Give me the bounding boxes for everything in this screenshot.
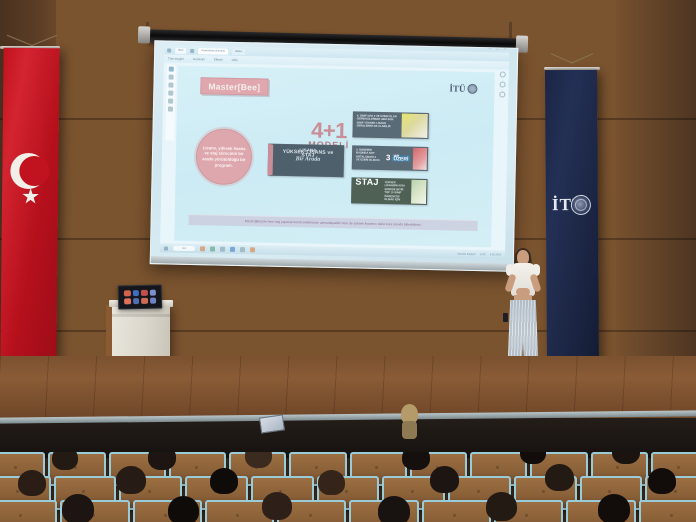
app-icon-mail[interactable] bbox=[240, 247, 245, 252]
center-card-line3: Bir Arada bbox=[276, 158, 340, 163]
presenter-laptop[interactable] bbox=[118, 284, 163, 309]
comments-icon[interactable] bbox=[499, 81, 505, 87]
audience-head bbox=[648, 468, 676, 494]
slide-card-gpa-text: 4. DÖNEMİN BAŞINDA NOT ORTALAMASI 3 VE Ü… bbox=[353, 146, 383, 169]
laptop-app-icon bbox=[149, 290, 156, 296]
audience-member-standing bbox=[398, 404, 420, 438]
seat[interactable] bbox=[639, 500, 696, 522]
audience-head bbox=[430, 466, 459, 493]
browser-tab-0[interactable]: New bbox=[175, 47, 186, 53]
start-icon[interactable] bbox=[164, 246, 168, 250]
pen-icon[interactable] bbox=[168, 83, 173, 88]
card-illustration bbox=[413, 148, 428, 170]
seat[interactable] bbox=[0, 500, 57, 522]
home-icon[interactable] bbox=[190, 48, 194, 52]
slide-thumbnail-icon[interactable] bbox=[169, 67, 174, 72]
slide-card-gpa-highlight: 3 ve ÜZERİ bbox=[383, 147, 413, 170]
slide-tool-rail[interactable] bbox=[165, 64, 176, 140]
tray-label: Yakında başlıyor bbox=[457, 253, 475, 256]
laptop-app-icon bbox=[141, 290, 148, 296]
itu-seal-icon bbox=[571, 195, 591, 215]
taskbar-search-input[interactable]: Ara bbox=[173, 246, 195, 251]
projection-screen: New PowerPoint Sunumu Slides — ▢ ✕ Tüm s… bbox=[152, 36, 514, 268]
app-icon-browser[interactable] bbox=[230, 247, 235, 252]
slide-card-gpa: 4. DÖNEMİN BAŞINDA NOT ORTALAMASI 3 VE Ü… bbox=[352, 145, 428, 171]
audience-head bbox=[62, 494, 94, 522]
card-illustration bbox=[411, 180, 426, 204]
gpa-number: 3 bbox=[386, 156, 391, 159]
itu-banner: İTÜ bbox=[545, 70, 599, 365]
browser-tab-1[interactable]: PowerPoint Sunumu bbox=[198, 48, 228, 55]
audience-head bbox=[262, 492, 292, 520]
audience-head bbox=[210, 468, 238, 494]
window-controls[interactable]: — ▢ ✕ bbox=[488, 46, 506, 50]
slide-card-staj-heading: STAJ bbox=[355, 180, 378, 184]
slide-title: Master[Bee] bbox=[200, 77, 268, 95]
seat-row-3 bbox=[0, 500, 696, 522]
laptop-app-icon bbox=[150, 298, 157, 304]
screenshot-root: İTÜ New PowerPoint Sunumu Slides — bbox=[0, 0, 696, 522]
turkish-flag-banner bbox=[0, 48, 59, 361]
center-card-body: LİSANS YÜKSEK LİSANS ve STAJ Bir Arada bbox=[273, 145, 344, 176]
audience-head bbox=[168, 496, 199, 522]
taskbar-tray[interactable]: Yakında başlıyor 14:32 6.06.2024 bbox=[457, 253, 501, 257]
app-icon-office[interactable] bbox=[200, 246, 205, 251]
slide-card-center: LİSANS YÜKSEK LİSANS ve STAJ Bir Arada bbox=[268, 144, 345, 178]
laptop-app-icon bbox=[141, 298, 148, 304]
gpa-suffix: ve ÜZERİ bbox=[392, 155, 410, 162]
pointer-icon[interactable] bbox=[168, 91, 173, 96]
crescent-icon bbox=[10, 153, 46, 189]
laptop-app-icon bbox=[124, 298, 131, 304]
slide-seal-icon bbox=[467, 84, 477, 94]
tray-clock[interactable]: 14:32 bbox=[480, 253, 486, 256]
audience-head bbox=[402, 452, 430, 470]
app-icon-powerpoint[interactable] bbox=[250, 247, 255, 252]
model-number: 4+1 bbox=[308, 120, 349, 140]
shapes-icon[interactable] bbox=[168, 99, 173, 104]
audience-area bbox=[0, 452, 696, 522]
zoom-icon[interactable] bbox=[169, 75, 174, 80]
slide-caption: Master[Bee] ile hem staj yaparak kendi s… bbox=[189, 214, 478, 231]
program-summary-circle: Lisans, yüksek lisans ve staj sürecinin … bbox=[195, 128, 252, 185]
lectern-lip bbox=[112, 314, 170, 317]
audience-head bbox=[116, 466, 146, 494]
roller-cap-left bbox=[138, 26, 150, 43]
card-illustration bbox=[401, 113, 427, 138]
audience-head bbox=[18, 470, 46, 496]
slide-brand-logo: İTÜ bbox=[449, 83, 477, 94]
app-workspace: Master[Bee] İTÜ 4+1 MODELİ Lisans, yükse… bbox=[160, 62, 509, 250]
seat[interactable] bbox=[422, 500, 491, 522]
share-icon[interactable] bbox=[499, 91, 505, 97]
star-icon bbox=[22, 188, 39, 205]
audience-head bbox=[378, 496, 410, 522]
menu-item-1[interactable]: Görünüm bbox=[193, 57, 205, 61]
audience-head bbox=[318, 470, 345, 495]
window-minimize-icon[interactable]: — bbox=[488, 46, 491, 50]
text-icon[interactable] bbox=[168, 107, 173, 112]
browser-tab-2[interactable]: Slides bbox=[232, 48, 245, 54]
audience-head bbox=[598, 494, 630, 522]
projected-desktop: New PowerPoint Sunumu Slides — ▢ ✕ Tüm s… bbox=[160, 45, 509, 259]
audience-head bbox=[148, 452, 176, 470]
laptop-app-icon bbox=[124, 290, 131, 296]
menu-item-2[interactable]: Eklenti bbox=[214, 57, 223, 61]
app-icon-folder[interactable] bbox=[220, 247, 225, 252]
laptop-app-icon bbox=[133, 298, 140, 304]
audience-head bbox=[52, 452, 78, 470]
audience-tablet bbox=[259, 414, 285, 433]
slide-brand-text: İTÜ bbox=[449, 83, 465, 93]
slide-card-staj-body: STAJ bbox=[352, 178, 382, 203]
stage-floor bbox=[0, 356, 696, 420]
screen-mount-right bbox=[509, 22, 512, 38]
slide-card-lisans: 4. SINIF GPA 3 VE ÜZERİ OLAN ÖĞRENCİLERİ… bbox=[352, 111, 429, 139]
presentation-slide: Master[Bee] İTÜ 4+1 MODELİ Lisans, yükse… bbox=[174, 66, 495, 248]
slide-card-lisans-text: 4. SINIF GPA 3 VE ÜZERİ OLAN ÖĞRENCİLERİ… bbox=[353, 112, 401, 137]
laptop-app-icon bbox=[132, 290, 139, 296]
speaker-phone bbox=[503, 313, 508, 322]
window-close-icon[interactable]: ✕ bbox=[504, 47, 506, 51]
app-icon-explorer[interactable] bbox=[210, 246, 215, 251]
audience-head bbox=[486, 492, 517, 521]
audience-head bbox=[545, 464, 574, 491]
slide-card-staj: STAJ YÜKSEK LİSANSINI KISA SÜREDE BİTİR … bbox=[351, 177, 428, 205]
settings-icon[interactable] bbox=[500, 71, 506, 77]
side-panel-rail[interactable] bbox=[497, 71, 506, 135]
screen-surface: New PowerPoint Sunumu Slides — ▢ ✕ Tüm s… bbox=[150, 40, 519, 272]
menu-item-3[interactable]: Giriş bbox=[232, 58, 238, 62]
slide-card-staj-text: YÜKSEK LİSANSINI KISA SÜREDE BİTİR TOP 1… bbox=[381, 179, 411, 204]
window-maximize-icon[interactable]: ▢ bbox=[496, 46, 499, 50]
menu-item-0[interactable]: Tüm seçgler bbox=[168, 57, 184, 61]
audience-body bbox=[402, 421, 417, 439]
window-icon bbox=[167, 48, 171, 52]
